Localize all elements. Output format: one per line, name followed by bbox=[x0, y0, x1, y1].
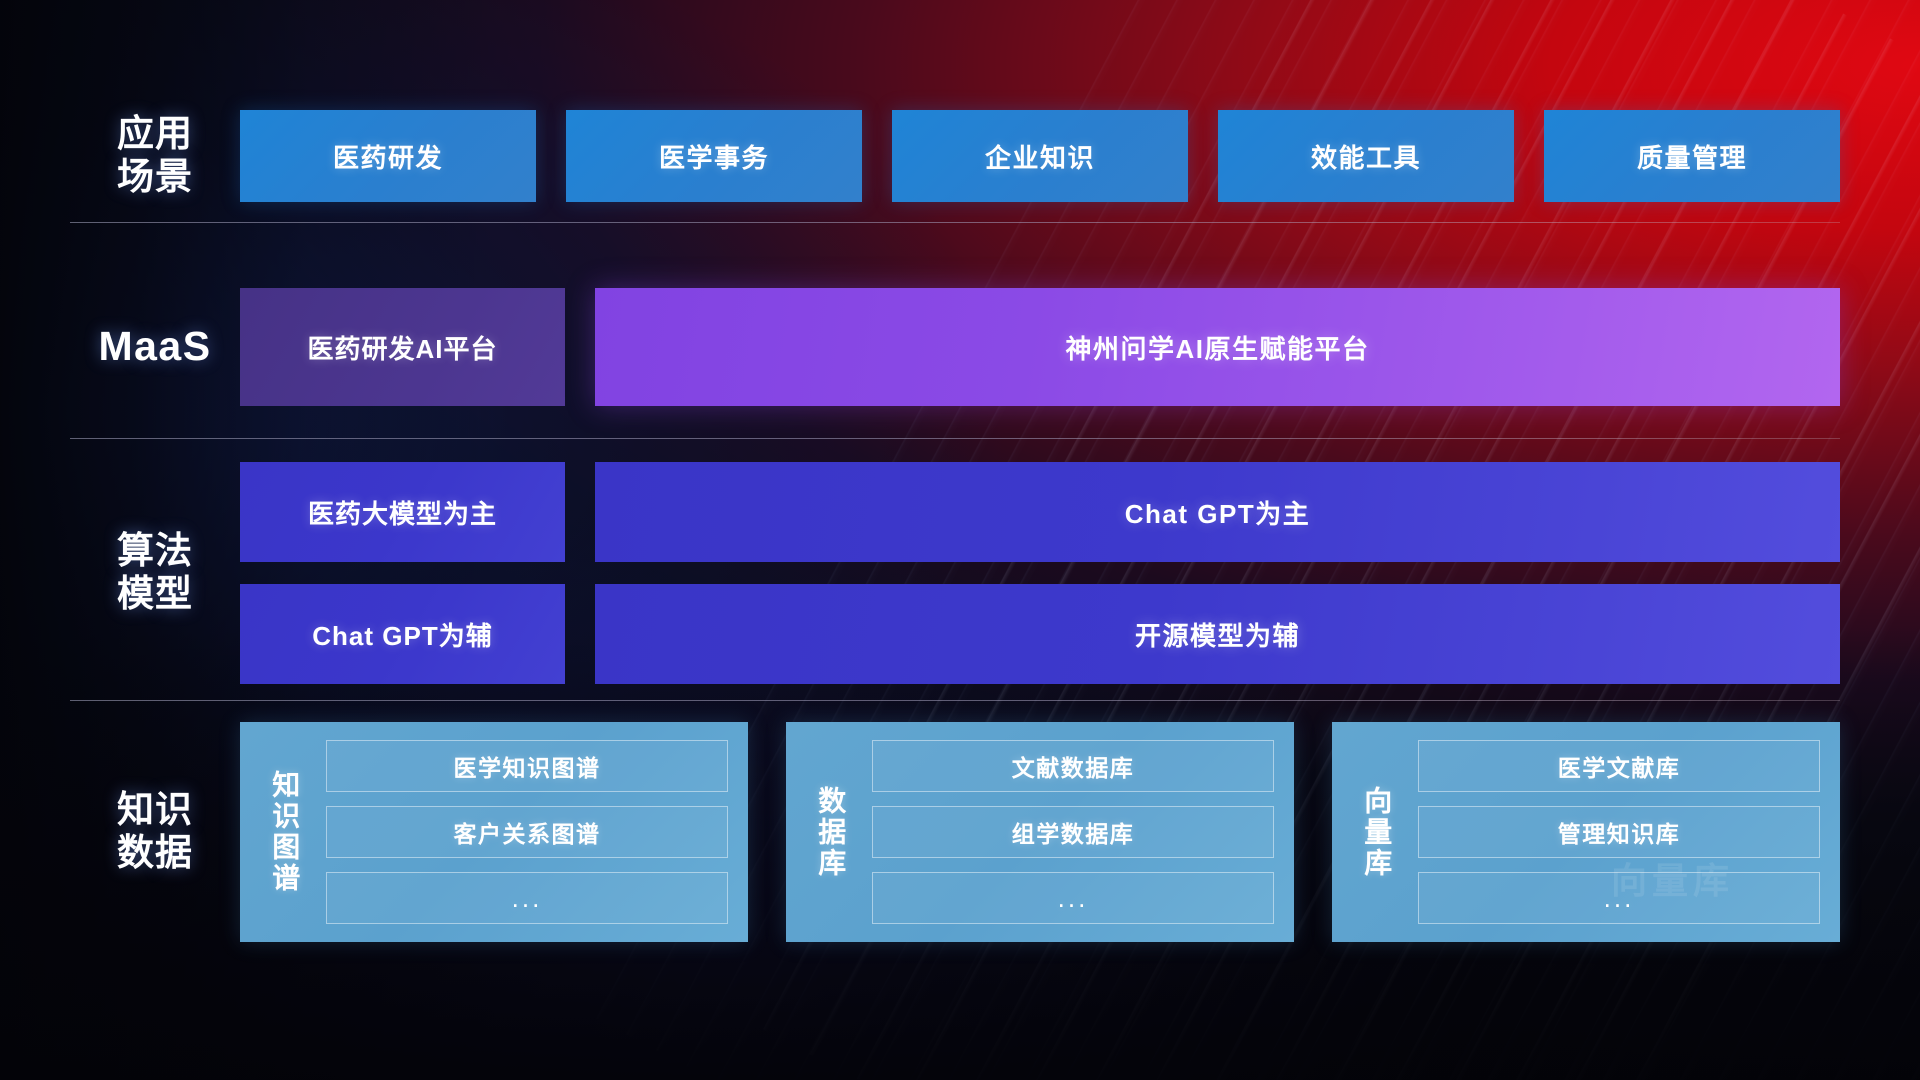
algo-card-opensource-secondary[interactable]: 开源模型为辅 bbox=[595, 584, 1840, 684]
divider-maas-algorithm bbox=[70, 438, 1840, 439]
knowledge-cards-container: 知识图谱 医学知识图谱 客户关系图谱 ... 数据库 文献数据库 组学数据库 .… bbox=[240, 722, 1840, 942]
maas-card-shenzhou-wenxue-platform[interactable]: 神州问学AI原生赋能平台 bbox=[595, 288, 1840, 406]
divider-algorithm-knowledge bbox=[70, 700, 1840, 701]
algorithm-row-primary: 医药大模型为主 Chat GPT为主 bbox=[240, 462, 1840, 562]
row-knowledge-data: 知识 数据 知识图谱 医学知识图谱 客户关系图谱 ... 数据库 bbox=[70, 722, 1840, 942]
application-cards-container: 医药研发 医学事务 企业知识 效能工具 质量管理 bbox=[240, 110, 1840, 202]
knowledge-chip-more-knowledge-graph[interactable]: ... bbox=[326, 872, 728, 924]
knowledge-chip-literature-database[interactable]: 文献数据库 bbox=[872, 740, 1274, 792]
app-card-medical-affairs[interactable]: 医学事务 bbox=[566, 110, 862, 202]
row-label-maas: MaaS bbox=[70, 323, 240, 371]
algorithm-row-secondary: Chat GPT为辅 开源模型为辅 bbox=[240, 584, 1840, 684]
knowledge-card-database[interactable]: 数据库 文献数据库 组学数据库 ... bbox=[786, 722, 1294, 942]
knowledge-chip-more-database[interactable]: ... bbox=[872, 872, 1274, 924]
knowledge-items-knowledge-graph: 医学知识图谱 客户关系图谱 ... bbox=[312, 740, 728, 924]
knowledge-chip-customer-relation-graph[interactable]: 客户关系图谱 bbox=[326, 806, 728, 858]
slide-canvas: 应用 场景 医药研发 医学事务 企业知识 效能工具 质量管理 MaaS 医药研发… bbox=[0, 0, 1920, 1080]
divider-application-maas bbox=[70, 222, 1840, 223]
knowledge-chip-medical-knowledge-graph[interactable]: 医学知识图谱 bbox=[326, 740, 728, 792]
app-card-drug-rnd[interactable]: 医药研发 bbox=[240, 110, 536, 202]
architecture-diagram: 应用 场景 医药研发 医学事务 企业知识 效能工具 质量管理 MaaS 医药研发… bbox=[0, 0, 1920, 1080]
app-card-enterprise-knowledge[interactable]: 企业知识 bbox=[892, 110, 1188, 202]
row-application-scenarios: 应用 场景 医药研发 医学事务 企业知识 效能工具 质量管理 bbox=[70, 110, 1840, 202]
row-maas: MaaS 医药研发AI平台 神州问学AI原生赋能平台 bbox=[70, 288, 1840, 406]
algo-card-chatgpt-secondary[interactable]: Chat GPT为辅 bbox=[240, 584, 565, 684]
algo-card-pharma-llm-primary[interactable]: 医药大模型为主 bbox=[240, 462, 565, 562]
knowledge-card-side-label-vector-store: 向量库 bbox=[1348, 736, 1404, 928]
knowledge-chip-management-knowledge-store[interactable]: 管理知识库 bbox=[1418, 806, 1820, 858]
row-label-knowledge-data: 知识 数据 bbox=[70, 789, 240, 875]
row-algorithm-model: 算法 模型 医药大模型为主 Chat GPT为主 Chat GPT为辅 开源模型… bbox=[70, 462, 1840, 684]
knowledge-card-side-label-database: 数据库 bbox=[802, 736, 858, 928]
knowledge-card-vector-store[interactable]: 向量库 医学文献库 管理知识库 ... bbox=[1332, 722, 1840, 942]
algo-card-chatgpt-primary[interactable]: Chat GPT为主 bbox=[595, 462, 1840, 562]
knowledge-chip-more-vector-store[interactable]: ... bbox=[1418, 872, 1820, 924]
row-label-algorithm-model: 算法 模型 bbox=[70, 530, 240, 616]
algorithm-cards-container: 医药大模型为主 Chat GPT为主 Chat GPT为辅 开源模型为辅 bbox=[240, 462, 1840, 684]
knowledge-chip-omics-database[interactable]: 组学数据库 bbox=[872, 806, 1274, 858]
knowledge-items-vector-store: 医学文献库 管理知识库 ... bbox=[1404, 740, 1820, 924]
knowledge-card-knowledge-graph[interactable]: 知识图谱 医学知识图谱 客户关系图谱 ... bbox=[240, 722, 748, 942]
knowledge-chip-medical-literature-store[interactable]: 医学文献库 bbox=[1418, 740, 1820, 792]
row-label-application-scenarios: 应用 场景 bbox=[70, 113, 240, 199]
knowledge-items-database: 文献数据库 组学数据库 ... bbox=[858, 740, 1274, 924]
knowledge-card-side-label-knowledge-graph: 知识图谱 bbox=[256, 736, 312, 928]
maas-cards-container: 医药研发AI平台 神州问学AI原生赋能平台 bbox=[240, 288, 1840, 406]
maas-card-drug-rnd-ai-platform[interactable]: 医药研发AI平台 bbox=[240, 288, 565, 406]
app-card-quality-management[interactable]: 质量管理 bbox=[1544, 110, 1840, 202]
app-card-efficiency-tools[interactable]: 效能工具 bbox=[1218, 110, 1514, 202]
